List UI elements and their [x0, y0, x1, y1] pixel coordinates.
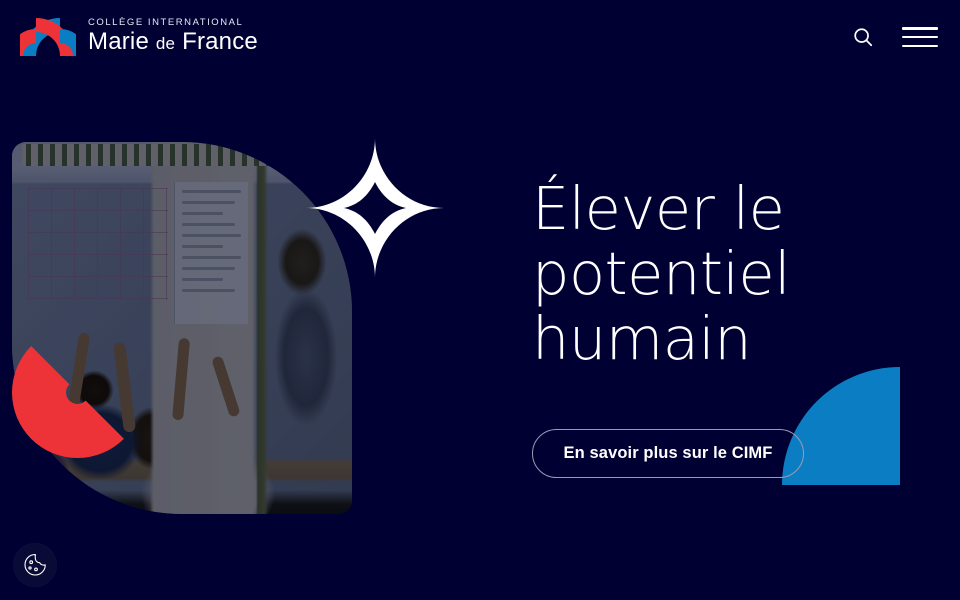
brand-eyebrow: COLLÈGE INTERNATIONAL	[88, 18, 258, 28]
brand-name-main: Marie	[88, 28, 149, 55]
red-quarter-arc-shape	[12, 327, 143, 458]
marie-de-france-arcs-logo-icon	[20, 14, 76, 58]
hamburger-menu-icon	[902, 24, 938, 50]
header-actions	[848, 20, 942, 54]
page-title: Élever le potentiel humain	[532, 176, 932, 371]
search-button[interactable]	[848, 22, 878, 52]
four-point-sparkle-icon	[306, 138, 444, 278]
site-header: COLLÈGE INTERNATIONAL Marie de France	[0, 0, 960, 76]
brand-text: COLLÈGE INTERNATIONAL Marie de France	[88, 18, 258, 55]
hero-copy: Élever le potentiel humain	[532, 176, 932, 371]
cookie-icon	[22, 552, 48, 578]
brand-name-last: France	[182, 28, 258, 55]
hero-section: Élever le potentiel humain En savoir plu…	[0, 0, 960, 600]
search-icon	[852, 26, 874, 48]
cookie-preferences-button[interactable]	[14, 544, 56, 586]
menu-button[interactable]	[898, 20, 942, 54]
hero-cta-button[interactable]: En savoir plus sur le CIMF	[532, 429, 804, 478]
brand-name-de: de	[156, 34, 175, 53]
page-root: COLLÈGE INTERNATIONAL Marie de France	[0, 0, 960, 600]
brand-logo-link[interactable]: COLLÈGE INTERNATIONAL Marie de France	[20, 14, 258, 58]
brand-name: Marie de France	[88, 30, 258, 54]
